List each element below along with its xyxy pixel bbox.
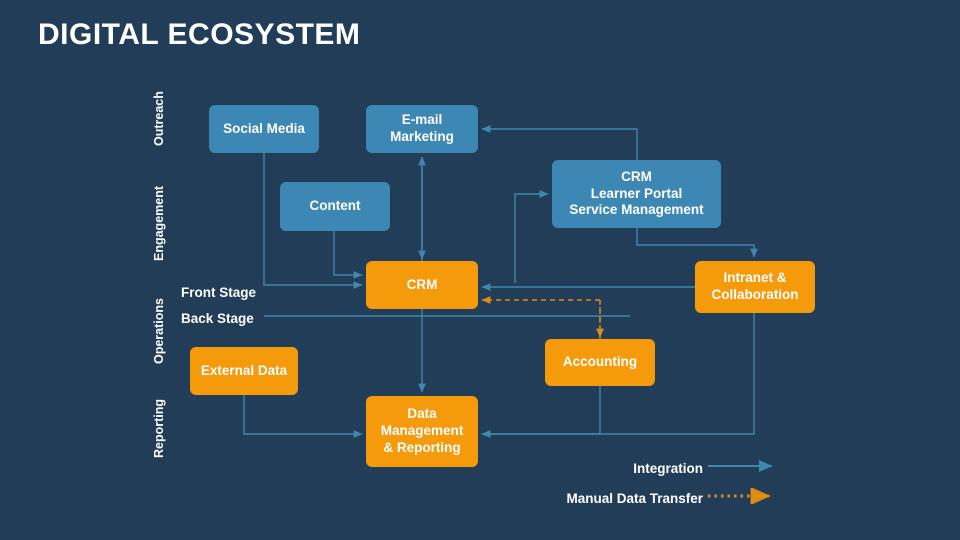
legend-arrow-integration bbox=[706, 458, 784, 474]
node-line: Intranet & bbox=[701, 270, 809, 287]
wire-crm-to-portal bbox=[515, 194, 548, 283]
node-line: Content bbox=[286, 198, 384, 215]
node-line: CRM bbox=[372, 277, 472, 294]
node-line: E-mail bbox=[372, 112, 472, 129]
node-crm-learner-portal[interactable]: CRM Learner Portal Service Management bbox=[552, 160, 721, 228]
page-title: DIGITAL ECOSYSTEM bbox=[38, 18, 360, 52]
node-email-marketing[interactable]: E-mail Marketing bbox=[366, 105, 478, 153]
digital-ecosystem-slide: DIGITAL ECOSYSTEM Outreach Engagement Op… bbox=[0, 0, 960, 540]
front-stage-label: Front Stage bbox=[181, 285, 256, 300]
wire-portal-to-intranet bbox=[637, 228, 754, 257]
node-line: Marketing bbox=[372, 129, 472, 146]
node-data-management-reporting[interactable]: Data Management & Reporting bbox=[366, 396, 478, 467]
node-line: Service Management bbox=[558, 202, 715, 219]
node-line: Management bbox=[372, 423, 472, 440]
stage-label-reporting: Reporting bbox=[152, 392, 166, 464]
legend-arrow-manual-data-transfer bbox=[706, 488, 784, 504]
connector-layer bbox=[0, 0, 960, 540]
node-line: Data bbox=[372, 406, 472, 423]
node-content[interactable]: Content bbox=[280, 182, 390, 231]
node-accounting[interactable]: Accounting bbox=[545, 339, 655, 386]
wire-accounting-to-data-management bbox=[482, 386, 600, 434]
node-line: External Data bbox=[196, 363, 292, 380]
wire-external-data-to-data-management bbox=[244, 395, 362, 434]
node-line: Accounting bbox=[551, 354, 649, 371]
node-social-media[interactable]: Social Media bbox=[209, 105, 319, 153]
legend-label-integration: Integration bbox=[540, 461, 703, 476]
stage-label-engagement: Engagement bbox=[152, 178, 166, 268]
wire-portal-to-email-marketing bbox=[482, 129, 637, 160]
node-line: Social Media bbox=[215, 121, 313, 138]
node-line: & Reporting bbox=[372, 440, 472, 457]
wire-content-to-crm bbox=[334, 231, 362, 275]
stage-label-operations: Operations bbox=[152, 290, 166, 372]
stage-label-outreach: Outreach bbox=[152, 88, 166, 150]
node-line: CRM bbox=[558, 169, 715, 186]
legend-label-manual-data-transfer: Manual Data Transfer bbox=[490, 491, 703, 506]
node-intranet-collaboration[interactable]: Intranet & Collaboration bbox=[695, 261, 815, 313]
back-stage-label: Back Stage bbox=[181, 311, 254, 326]
node-external-data[interactable]: External Data bbox=[190, 347, 298, 395]
node-line: Collaboration bbox=[701, 287, 809, 304]
node-crm[interactable]: CRM bbox=[366, 261, 478, 309]
node-line: Learner Portal bbox=[558, 186, 715, 203]
